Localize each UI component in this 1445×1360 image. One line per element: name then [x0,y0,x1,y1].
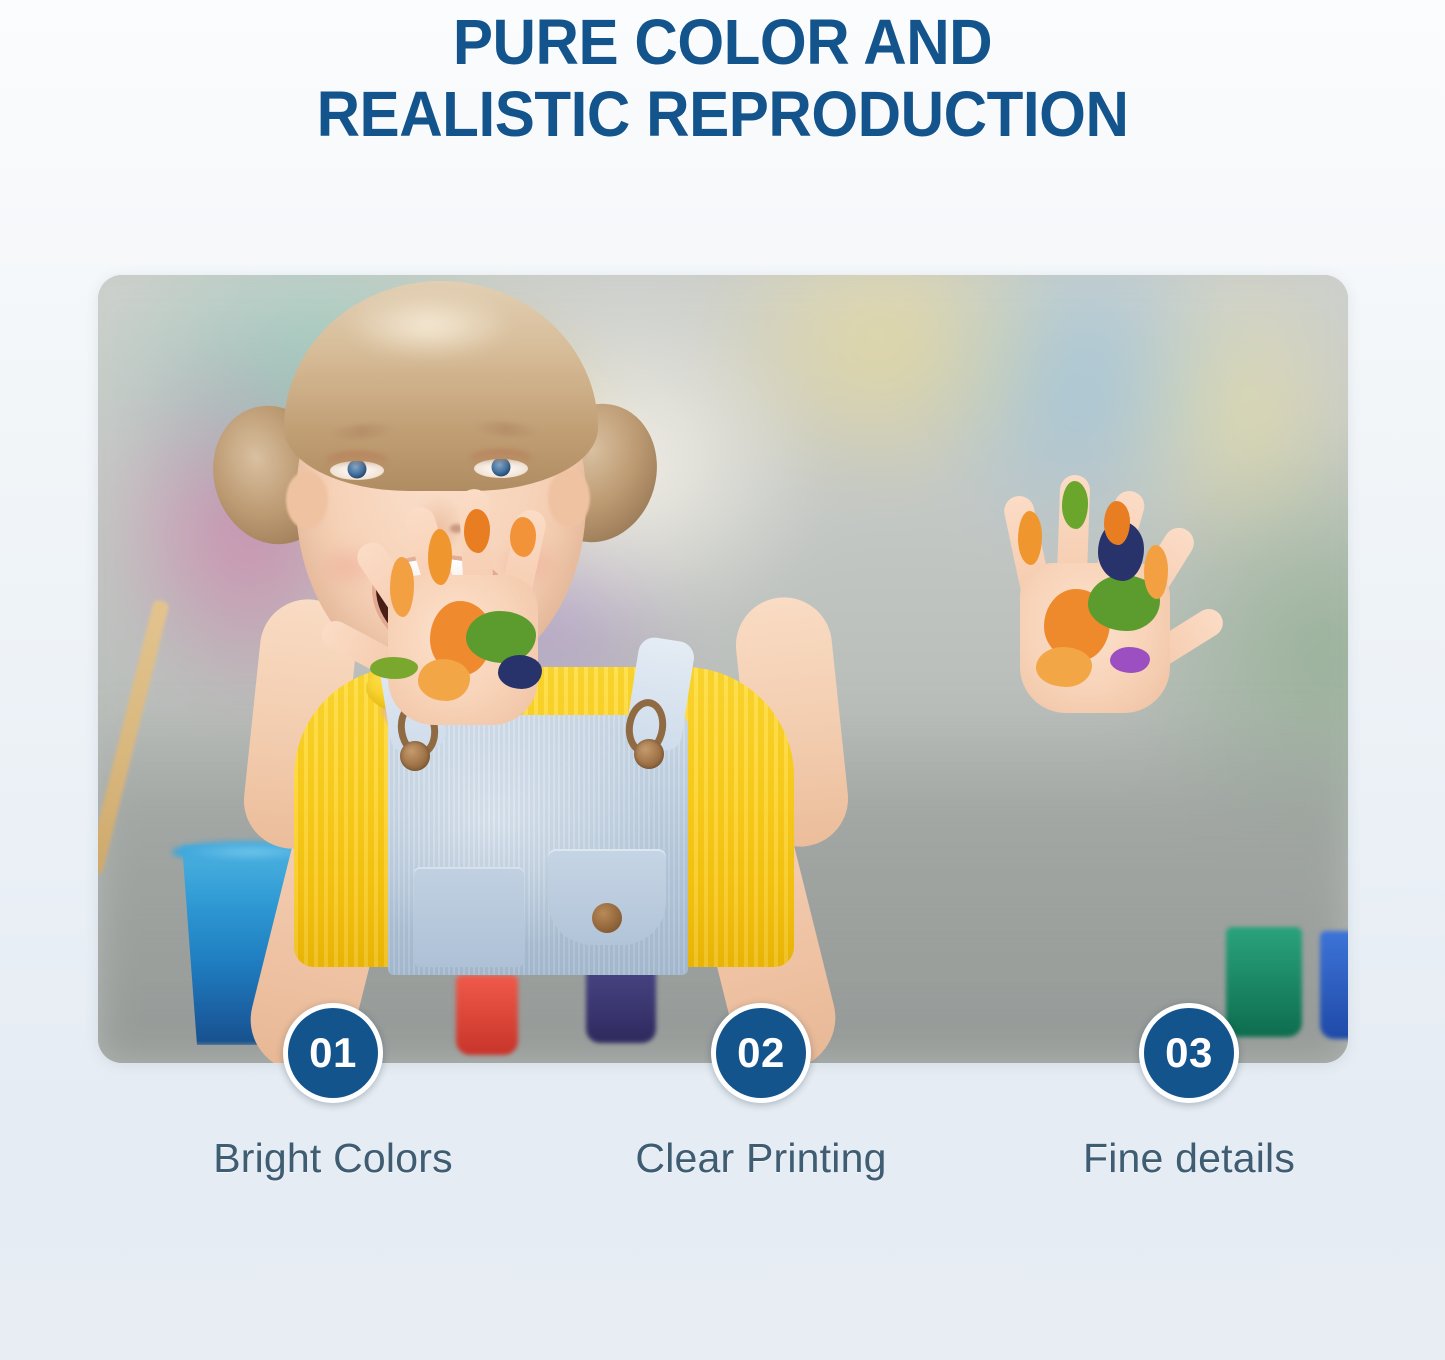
orange-finger-left-3 [390,557,414,617]
page-title-line-2: REALISTIC REPRODUCTION [43,78,1401,150]
page-title: PURE COLOR AND REALISTIC REPRODUCTION [43,0,1401,151]
orange-finger-right-3 [1144,545,1168,599]
feature-badge-03[interactable]: 03 [1139,1003,1239,1103]
orange-fingertip-right [1104,501,1130,545]
overall-pocket-left [414,867,524,967]
amber-paint-left [418,659,470,701]
eyelid-right [470,449,532,465]
orange-fingertip-left [464,509,490,553]
page-title-line-1: PURE COLOR AND [43,6,1401,78]
overall-buckle-left [400,741,430,771]
painted-hand-left [346,483,576,733]
orange-fingertip-left-2 [510,517,536,557]
overall-buckle-right [634,739,664,769]
hero-photo [98,275,1348,1063]
green-paint-thumb-left [370,657,418,679]
green-paint-pot [1226,927,1302,1037]
green-fingertip-right [1062,481,1088,529]
orange-finger-right-2 [1018,511,1042,565]
amber-paint-right [1036,647,1092,687]
navy-paint-left [498,655,542,689]
hair-highlight [344,293,514,359]
ear-left [286,471,328,529]
feature-label-01: Bright Colors [143,1135,523,1182]
feature-badge-02-number: 02 [737,1029,785,1077]
feature-label-02: Clear Printing [571,1135,951,1182]
feature-badge-03-number: 03 [1165,1029,1213,1077]
feature-label-03: Fine details [999,1135,1379,1182]
feature-badge-01-number: 01 [309,1029,357,1077]
blue-paint-pot-right [1320,931,1348,1039]
overall-pocket-button [592,903,622,933]
eyelid-left [326,451,388,467]
orange-finger-left-4 [428,529,452,585]
feature-badge-01[interactable]: 01 [283,1003,383,1103]
feature-badge-02[interactable]: 02 [711,1003,811,1103]
red-paint-pot [456,975,518,1055]
purple-paint-right [1110,647,1150,673]
painted-hand-right [978,471,1208,721]
